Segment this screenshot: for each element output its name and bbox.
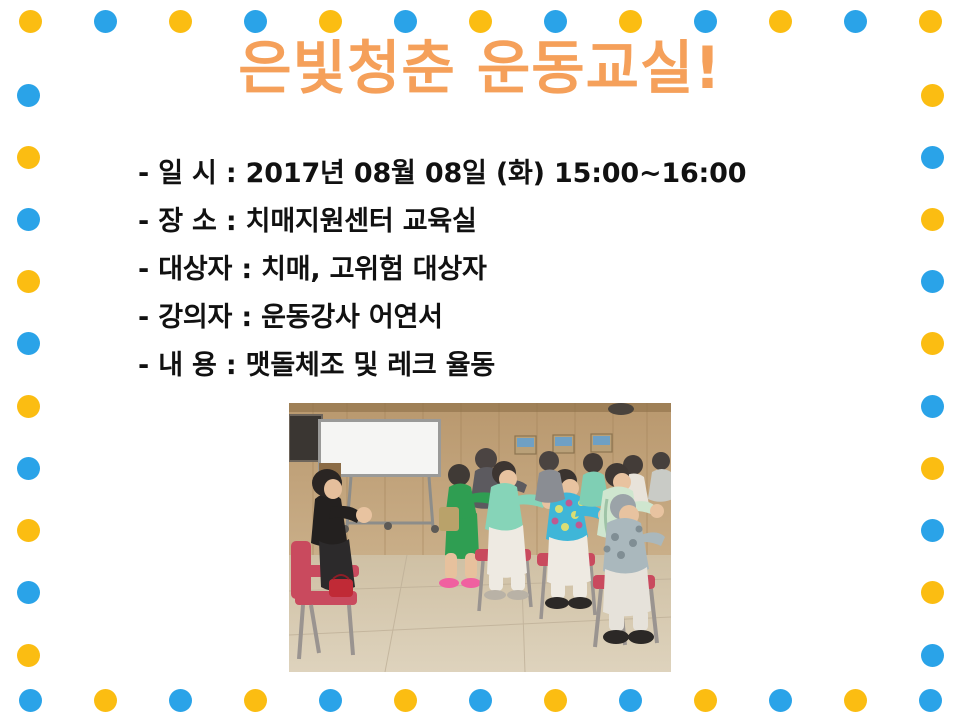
border-dot-right [921,519,944,542]
border-dot-left [17,332,40,355]
border-dot-left [17,581,40,604]
border-dot-bottom [94,689,117,712]
border-dot-bottom [469,689,492,712]
border-dot-bottom [319,689,342,712]
activity-photo [289,403,671,672]
border-dot-bottom [919,689,942,712]
info-line-content: - 내 용 : 맷돌체조 및 레크 율동 [138,344,858,392]
border-dot-bottom [694,689,717,712]
activity-photo-illustration [289,403,671,672]
poster-canvas: 은빛청춘 운동교실! - 일 시 : 2017년 08월 08일 (화) 15:… [0,0,960,720]
border-dot-left [17,208,40,231]
info-list: - 일 시 : 2017년 08월 08일 (화) 15:00~16:00 - … [138,152,858,392]
border-dot-bottom [169,689,192,712]
info-line-instructor: - 강의자 : 운동강사 어연서 [138,296,858,344]
border-dot-bottom [244,689,267,712]
border-dot-top [769,10,792,33]
border-dot-top [19,10,42,33]
border-dot-left [17,146,40,169]
border-dot-top [844,10,867,33]
info-line-target: - 대상자 : 치매, 고위험 대상자 [138,248,858,296]
border-dot-top [169,10,192,33]
border-dot-right [921,270,944,293]
border-dot-right [921,146,944,169]
border-dot-bottom [544,689,567,712]
border-dot-top [469,10,492,33]
border-dot-bottom [619,689,642,712]
info-line-location: - 장 소 : 치매지원센터 교육실 [138,200,858,248]
border-dot-top [244,10,267,33]
border-dot-left [17,457,40,480]
border-dot-left [17,395,40,418]
border-dot-top [394,10,417,33]
border-dot-right [921,208,944,231]
border-dot-right [921,457,944,480]
info-line-datetime: - 일 시 : 2017년 08월 08일 (화) 15:00~16:00 [138,152,858,200]
border-dot-bottom [769,689,792,712]
border-dot-right [921,644,944,667]
border-dot-left [17,644,40,667]
border-dot-right [921,332,944,355]
border-dot-top [619,10,642,33]
border-dot-left [17,270,40,293]
border-dot-top [319,10,342,33]
border-dot-bottom [19,689,42,712]
border-dot-left [17,519,40,542]
border-dot-top [544,10,567,33]
border-dot-bottom [394,689,417,712]
border-dot-top [919,10,942,33]
border-dot-right [921,581,944,604]
border-dot-top [694,10,717,33]
border-dot-top [94,10,117,33]
page-title: 은빛청춘 운동교실! [0,38,960,99]
border-dot-right [921,395,944,418]
border-dot-bottom [844,689,867,712]
